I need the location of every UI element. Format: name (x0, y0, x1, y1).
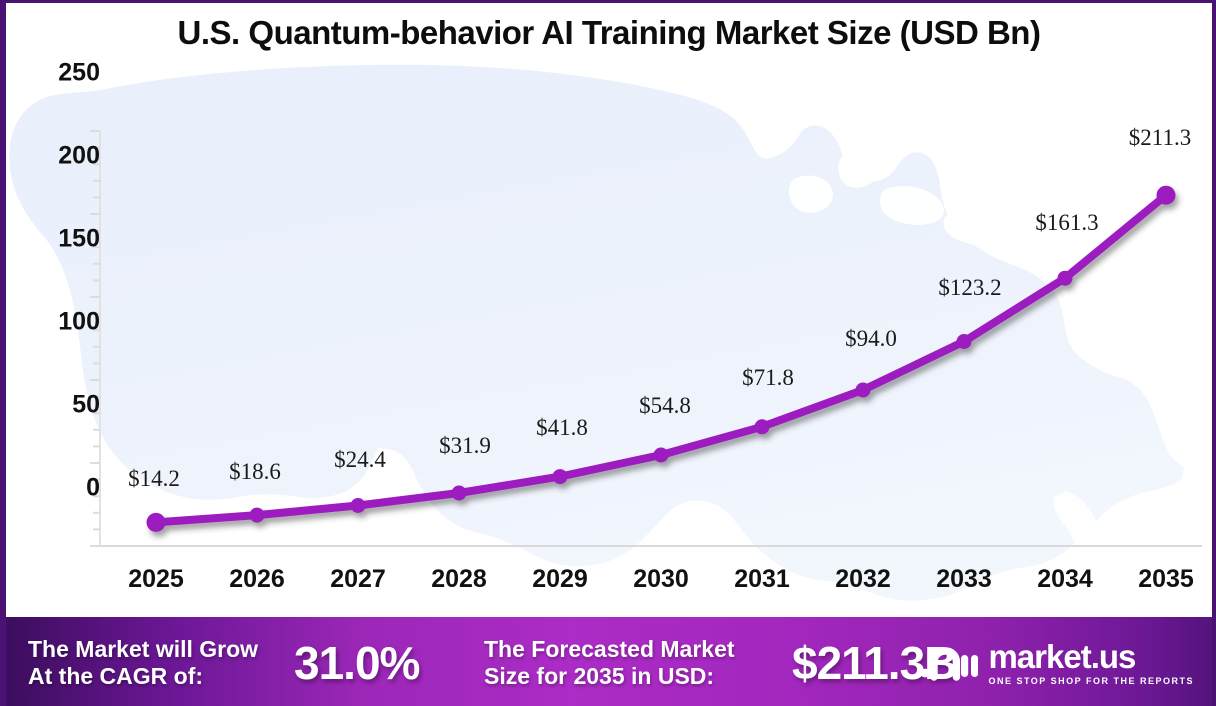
cagr-caption-line1: The Market will Grow (28, 636, 290, 663)
cagr-caption: The Market will Grow At the CAGR of: (28, 636, 290, 690)
forecast-caption-line2: Size for 2035 in USD: (484, 663, 784, 690)
point-label-2029: $41.8 (536, 415, 588, 441)
point-label-2025: $14.2 (128, 466, 180, 492)
market-us-logo-icon (920, 643, 978, 683)
point-label-2030: $54.8 (639, 393, 691, 419)
point-label-2027: $24.4 (334, 447, 386, 473)
point-label-2026: $18.6 (229, 459, 281, 485)
chart-infographic: U.S. Quantum-behavior AI Training Market… (0, 0, 1216, 706)
point-label-2035: $211.3 (1129, 125, 1191, 151)
point-label-2033: $123.2 (938, 275, 1001, 301)
cagr-caption-line2: At the CAGR of: (28, 663, 290, 690)
point-value-labels: $14.2$18.6$24.4$31.9$41.8$54.8$71.8$94.0… (6, 61, 1212, 609)
summary-banner: The Market will Grow At the CAGR of: 31.… (0, 617, 1216, 706)
brand-logo[interactable]: market.us ONE STOP SHOP FOR THE REPORTS (920, 640, 1194, 686)
title-bar: U.S. Quantum-behavior AI Training Market… (6, 3, 1212, 63)
page-title: U.S. Quantum-behavior AI Training Market… (178, 14, 1041, 52)
logo-text: market.us ONE STOP SHOP FOR THE REPORTS (988, 640, 1194, 686)
logo-wordmark: market.us (988, 640, 1135, 673)
forecast-caption-line1: The Forecasted Market (484, 636, 784, 663)
forecast-caption: The Forecasted Market Size for 2035 in U… (484, 636, 784, 690)
cagr-value: 31.0% (294, 636, 474, 690)
cagr-value-cell: 31.0% (290, 617, 474, 706)
point-label-2034: $161.3 (1035, 210, 1098, 236)
logo-tagline: ONE STOP SHOP FOR THE REPORTS (988, 676, 1194, 686)
point-label-2032: $94.0 (845, 326, 897, 352)
point-label-2031: $71.8 (742, 365, 794, 391)
point-label-2028: $31.9 (439, 433, 491, 459)
cagr-caption-cell: The Market will Grow At the CAGR of: (0, 617, 290, 706)
forecast-caption-cell: The Forecasted Market Size for 2035 in U… (474, 617, 784, 706)
